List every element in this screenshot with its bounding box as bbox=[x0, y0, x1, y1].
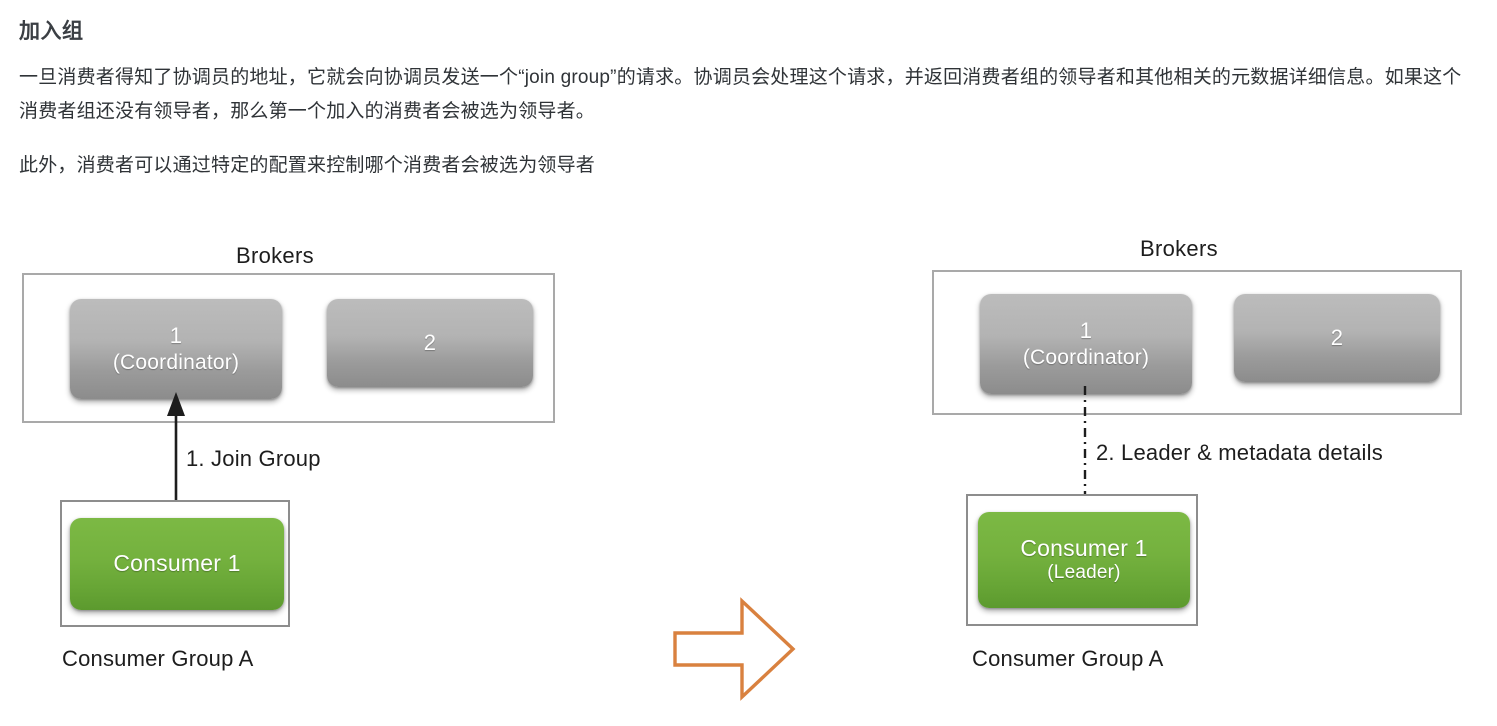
consumer-group-caption-right: Consumer Group A bbox=[972, 646, 1164, 672]
broker-node-1-label: 1 bbox=[1080, 318, 1092, 344]
broker-node-2-label: 2 bbox=[1331, 325, 1343, 351]
broker-node-1-label: 1 bbox=[170, 323, 182, 349]
broker-node-1-sublabel: (Coordinator) bbox=[1023, 345, 1149, 370]
broker-node-2-label: 2 bbox=[424, 330, 436, 356]
kafka-join-group-diagram: Brokers 1 (Coordinator) 2 1. Join Group … bbox=[0, 228, 1497, 726]
consumer-group-caption-left: Consumer Group A bbox=[62, 646, 254, 672]
consumer-node-1-left[interactable]: Consumer 1 bbox=[70, 518, 284, 610]
consumer-group-container-left: Consumer 1 bbox=[60, 500, 290, 627]
step-label-leader-metadata: 2. Leader & metadata details bbox=[1096, 440, 1383, 466]
paragraph-2: 此外，消费者可以通过特定的配置来控制哪个消费者会被选为领导者 bbox=[19, 149, 1475, 183]
diagram-panel-before: Brokers 1 (Coordinator) 2 1. Join Group … bbox=[0, 228, 640, 726]
paragraph-1: 一旦消费者得知了协调员的地址，它就会向协调员发送一个“join group”的请… bbox=[19, 61, 1475, 129]
transition-arrow-icon bbox=[672, 596, 797, 702]
arrow-head bbox=[167, 392, 185, 416]
brokers-container-left: 1 (Coordinator) 2 bbox=[22, 273, 555, 423]
consumer-node-1-right[interactable]: Consumer 1 (Leader) bbox=[978, 512, 1190, 608]
broker-node-2-left[interactable]: 2 bbox=[327, 299, 533, 387]
brokers-title-left: Brokers bbox=[236, 243, 314, 269]
broker-node-1-sublabel: (Coordinator) bbox=[113, 350, 239, 375]
brokers-container-right: 1 (Coordinator) 2 bbox=[932, 270, 1462, 415]
diagram-panel-after: Brokers 1 (Coordinator) 2 2. Leader & me… bbox=[900, 228, 1497, 726]
page-title: 加入组 bbox=[19, 18, 1475, 45]
consumer-node-1-sublabel: (Leader) bbox=[1047, 562, 1120, 585]
broker-node-1-left[interactable]: 1 (Coordinator) bbox=[70, 299, 282, 399]
consumer-node-1-label: Consumer 1 bbox=[113, 550, 240, 578]
block-arrow-shape bbox=[675, 601, 793, 697]
article-text-block: 加入组 一旦消费者得知了协调员的地址，它就会向协调员发送一个“join grou… bbox=[19, 18, 1475, 197]
broker-node-1-right[interactable]: 1 (Coordinator) bbox=[980, 294, 1192, 394]
broker-node-2-right[interactable]: 2 bbox=[1234, 294, 1440, 382]
consumer-node-1-label: Consumer 1 bbox=[1020, 535, 1147, 563]
brokers-title-right: Brokers bbox=[1140, 236, 1218, 262]
step-label-join-group: 1. Join Group bbox=[186, 446, 321, 472]
consumer-group-container-right: Consumer 1 (Leader) bbox=[966, 494, 1198, 626]
